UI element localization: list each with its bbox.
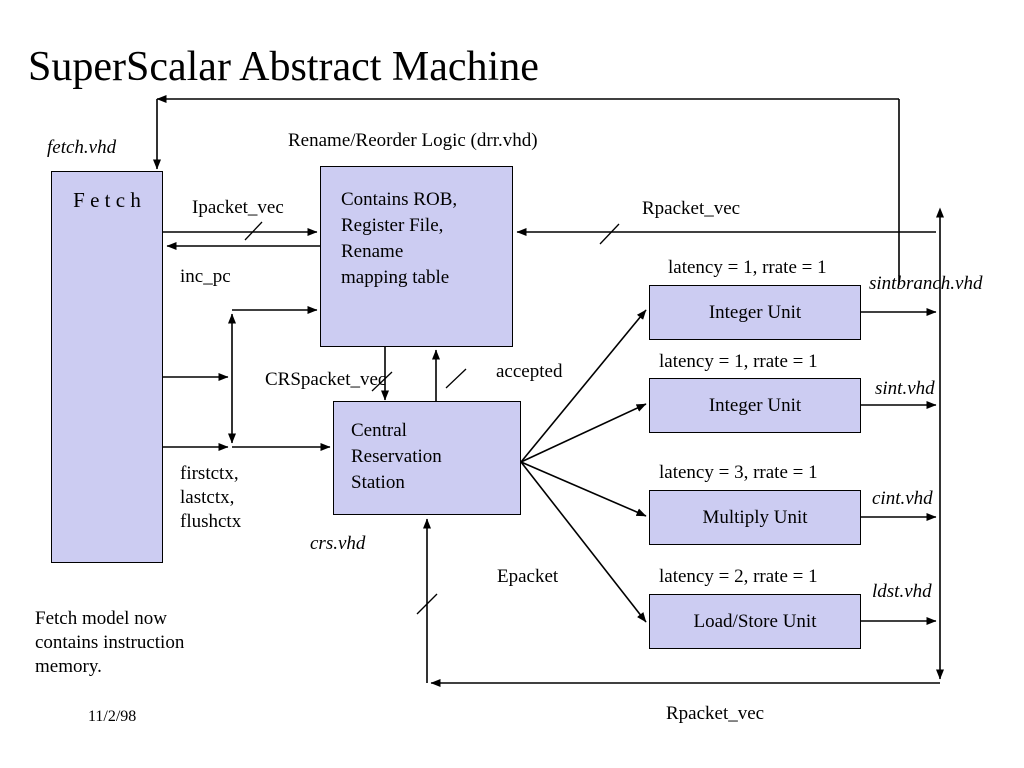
unit-2-spec: latency = 3, rrate = 1: [659, 461, 818, 485]
signal-rpacket-vec-top: Rpacket_vec: [642, 197, 740, 221]
slide-date: 11/2/98: [88, 708, 136, 726]
fetch-box[interactable]: [51, 171, 163, 563]
signal-ctx: firstctx, lastctx, flushctx: [180, 462, 241, 534]
drr-heading: Rename/Reorder Logic (drr.vhd): [288, 129, 538, 153]
drr-box-text: Contains ROB, Register File, Rename mapp…: [341, 187, 521, 291]
fetch-box-label: F e t c h: [51, 185, 163, 215]
signal-rpacket-vec-bottom: Rpacket_vec: [666, 702, 764, 726]
unit-1-file-label: sint.vhd: [875, 377, 935, 401]
unit-3-file-label: ldst.vhd: [872, 580, 932, 604]
unit-2-file-label: cint.vhd: [872, 487, 933, 511]
slide-canvas: SuperScalar Abstract Machine: [0, 0, 1024, 768]
unit-2-label: Multiply Unit: [649, 505, 861, 531]
fetch-note: Fetch model now contains instruction mem…: [35, 607, 184, 679]
page-title: SuperScalar Abstract Machine: [28, 42, 539, 92]
unit-1-label: Integer Unit: [649, 393, 861, 419]
signal-crspacket-vec: CRSpacket_vec: [265, 368, 386, 392]
unit-3-spec: latency = 2, rrate = 1: [659, 565, 818, 589]
unit-0-label: Integer Unit: [649, 300, 861, 326]
unit-1-spec: latency = 1, rrate = 1: [659, 350, 818, 374]
signal-inc-pc: inc_pc: [180, 265, 231, 289]
signal-accepted: accepted: [496, 360, 562, 384]
unit-0-spec: latency = 1, rrate = 1: [668, 256, 827, 280]
signal-epacket: Epacket: [497, 565, 558, 589]
signal-ipacket-vec: Ipacket_vec: [192, 196, 284, 220]
crs-file-label: crs.vhd: [310, 532, 365, 556]
unit-0-file-label: sintbranch.vhd: [869, 272, 982, 296]
unit-3-label: Load/Store Unit: [649, 609, 861, 635]
fetch-file-label: fetch.vhd: [47, 136, 116, 160]
crs-box-text: Central Reservation Station: [351, 418, 521, 496]
